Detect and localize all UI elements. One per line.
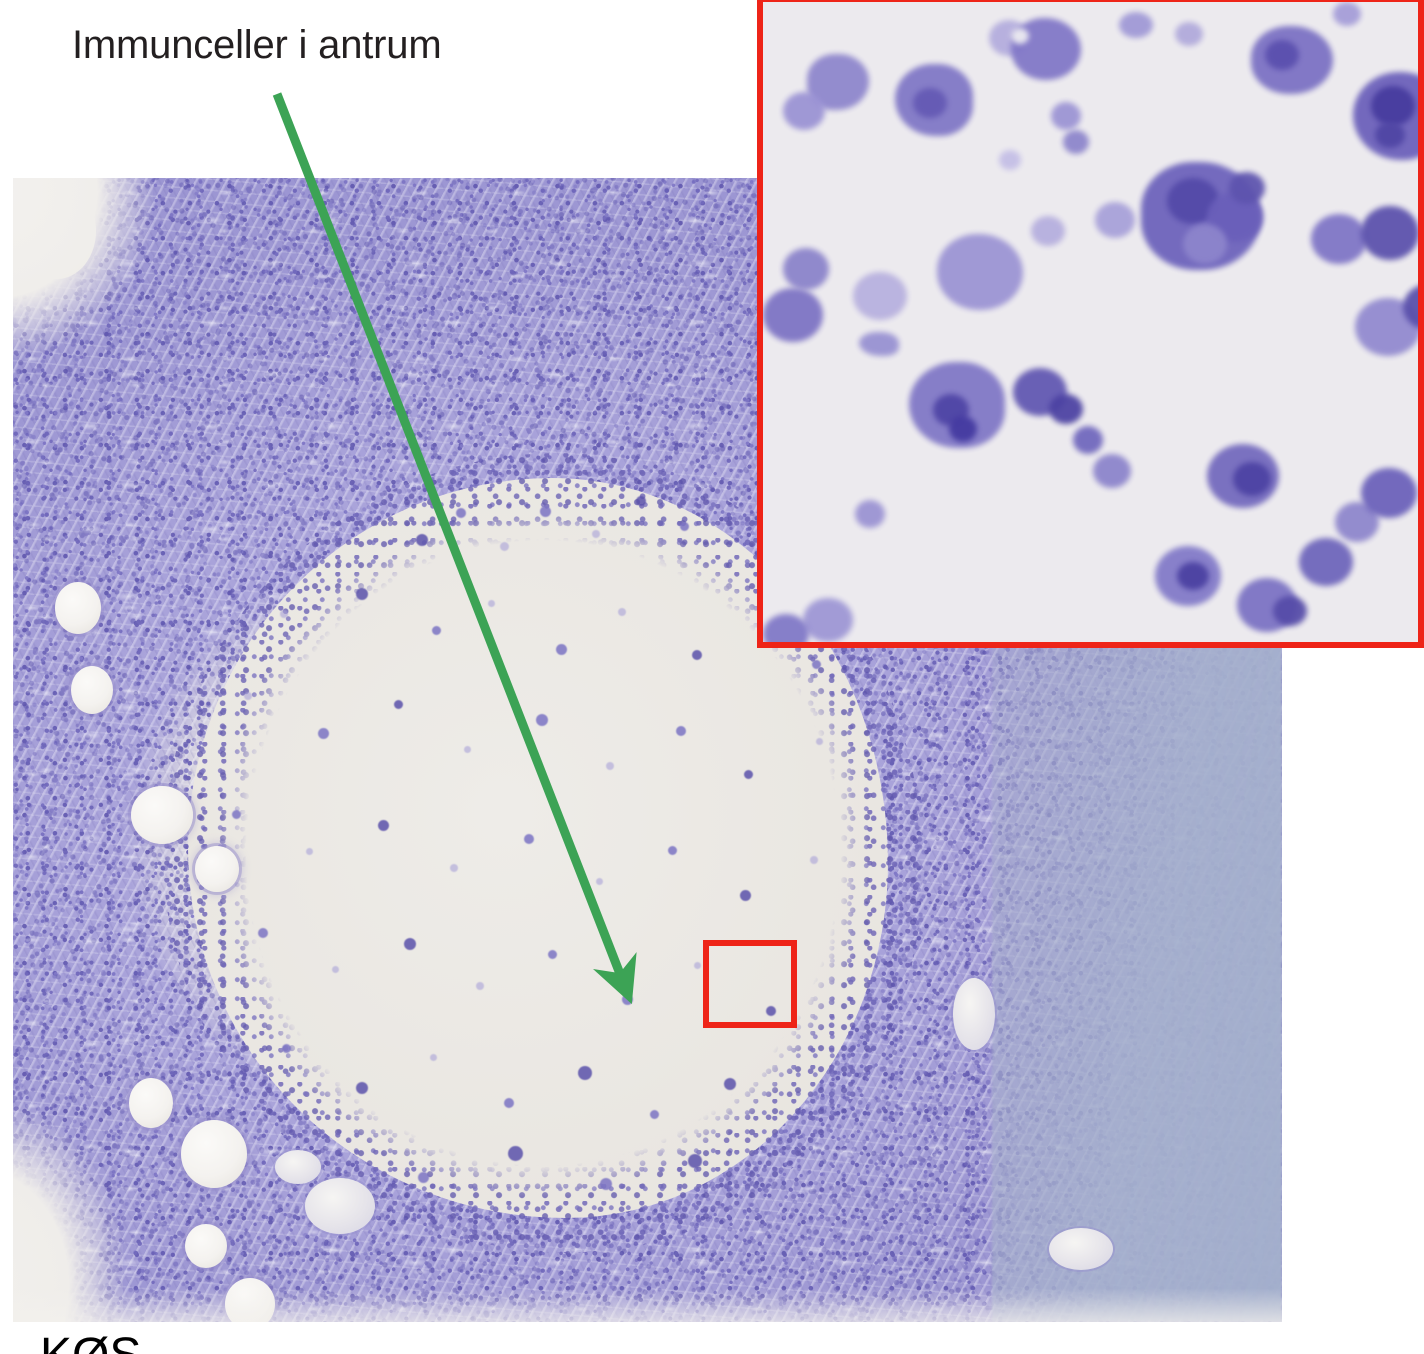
antral-immune-cell	[524, 834, 534, 844]
inset-cell	[1233, 462, 1271, 496]
antral-immune-cell	[404, 938, 416, 950]
inset-cell	[783, 92, 825, 130]
inset-cell	[1119, 12, 1153, 38]
antral-immune-cell	[464, 746, 471, 753]
inset-cell	[1093, 454, 1131, 488]
antral-immune-cell	[394, 700, 403, 709]
blood-vessel	[275, 1150, 321, 1184]
antral-immune-cell	[668, 846, 677, 855]
antral-immune-cell	[306, 848, 313, 855]
antral-immune-cell	[356, 1082, 368, 1094]
antral-immune-cell	[418, 1172, 429, 1183]
inset-cell	[1183, 224, 1227, 264]
antral-immune-cell	[810, 856, 818, 864]
antral-immune-cell	[540, 506, 551, 517]
antral-immune-cell	[622, 994, 633, 1005]
antral-immune-cell	[378, 820, 389, 831]
antral-immune-cell	[650, 1110, 659, 1119]
blood-vessel	[953, 978, 995, 1050]
inset-cell	[1073, 426, 1103, 454]
blood-vessel	[1049, 1228, 1113, 1270]
antral-immune-cell	[728, 500, 740, 512]
inset-cell	[913, 88, 947, 118]
antral-immune-cell	[232, 810, 241, 819]
antral-immune-cell	[740, 890, 751, 901]
inset-cell	[999, 150, 1021, 170]
antral-immune-cell	[596, 878, 603, 885]
region-of-interest-box	[703, 940, 797, 1028]
ovarian-follicle	[131, 786, 193, 844]
antral-immune-cell	[488, 600, 495, 607]
inset-cell	[1175, 22, 1203, 46]
top-left-pale-rim	[13, 178, 153, 358]
inset-cell	[1177, 562, 1209, 590]
inset-cell	[937, 234, 1023, 310]
antral-immune-cell	[456, 508, 466, 518]
antral-immune-cell	[280, 610, 288, 618]
inset-cell	[1265, 40, 1299, 70]
inset-cell	[1051, 102, 1081, 130]
antral-immune-cell	[816, 738, 823, 745]
inset-cell	[763, 614, 809, 648]
antral-immune-cell	[504, 1098, 514, 1108]
inset-cell	[803, 598, 853, 642]
antral-immune-cell	[694, 962, 701, 969]
bottom-pale-rim	[13, 1288, 1282, 1322]
ovarian-follicle	[195, 846, 239, 892]
ovarian-follicle	[185, 1224, 227, 1268]
inset-cell	[1299, 538, 1353, 586]
antral-immune-cell	[318, 728, 329, 739]
antral-immune-cell	[250, 504, 261, 515]
antral-immune-cell	[430, 1054, 437, 1061]
inset-cell	[1375, 122, 1405, 148]
inset-cell	[949, 416, 977, 442]
inset-cell	[1361, 206, 1419, 260]
footer-text: KØS	[40, 1330, 141, 1354]
antral-immune-cell	[450, 864, 458, 872]
antral-immune-cell	[676, 726, 686, 736]
inset-cell	[1273, 596, 1307, 626]
antral-immune-cell	[578, 1066, 592, 1080]
antral-immune-cell	[332, 966, 339, 973]
inset-cell	[1333, 2, 1361, 26]
antral-immune-cell	[338, 518, 351, 531]
antral-immune-cell	[416, 534, 428, 546]
ovarian-follicle	[55, 582, 101, 634]
antral-immune-cell	[508, 1146, 523, 1161]
antral-immune-cell	[724, 1078, 736, 1090]
blood-vessel	[305, 1178, 375, 1234]
antral-immune-cell	[222, 574, 232, 584]
antral-immune-cell	[328, 1150, 341, 1163]
ovarian-follicle	[71, 666, 113, 714]
antral-immune-cell	[258, 928, 268, 938]
antral-immune-cell	[282, 1044, 291, 1053]
antral-immune-cell	[356, 588, 368, 600]
antral-immune-cell	[618, 608, 626, 616]
inset-cell	[763, 288, 823, 342]
antral-immune-cell	[556, 644, 567, 655]
inset-cell	[859, 332, 899, 356]
inset-cell	[1229, 172, 1265, 204]
antral-immune-cell	[292, 492, 301, 501]
inset-high-magnification-image	[757, 0, 1424, 648]
antral-immune-cell	[772, 1186, 783, 1197]
antral-immune-cell	[500, 542, 509, 551]
ovarian-follicle	[181, 1120, 247, 1188]
inset-cell	[1095, 202, 1135, 238]
antral-immune-cell	[796, 1122, 806, 1132]
inset-cell	[1361, 468, 1417, 518]
antral-immune-cell	[536, 714, 548, 726]
antral-immune-cell	[606, 762, 614, 770]
antral-immune-cell	[688, 1154, 702, 1168]
inset-cell	[1011, 28, 1029, 44]
antral-immune-cell	[476, 982, 484, 990]
antral-immune-cell	[592, 530, 600, 538]
antral-immune-cell	[812, 660, 821, 669]
page-title: Immunceller i antrum	[72, 22, 441, 68]
antral-immune-cell	[680, 522, 689, 531]
antral-immune-cell	[384, 500, 392, 508]
ovarian-follicle	[129, 1078, 173, 1128]
antral-immune-cell	[636, 496, 646, 506]
antral-immune-cell	[548, 950, 557, 959]
antral-immune-cell	[692, 650, 702, 660]
inset-cell	[855, 500, 885, 528]
antral-immune-cell	[600, 1178, 612, 1190]
inset-cell	[1311, 214, 1367, 264]
inset-cell	[1063, 130, 1089, 154]
inset-cell	[783, 248, 829, 290]
inset-cell	[1049, 394, 1083, 424]
inset-cell	[853, 272, 907, 320]
antral-immune-cell	[744, 770, 753, 779]
antral-immune-cell	[244, 692, 252, 700]
antral-immune-cell	[432, 626, 441, 635]
inset-cell	[1371, 86, 1415, 126]
inset-cell	[1031, 216, 1065, 246]
